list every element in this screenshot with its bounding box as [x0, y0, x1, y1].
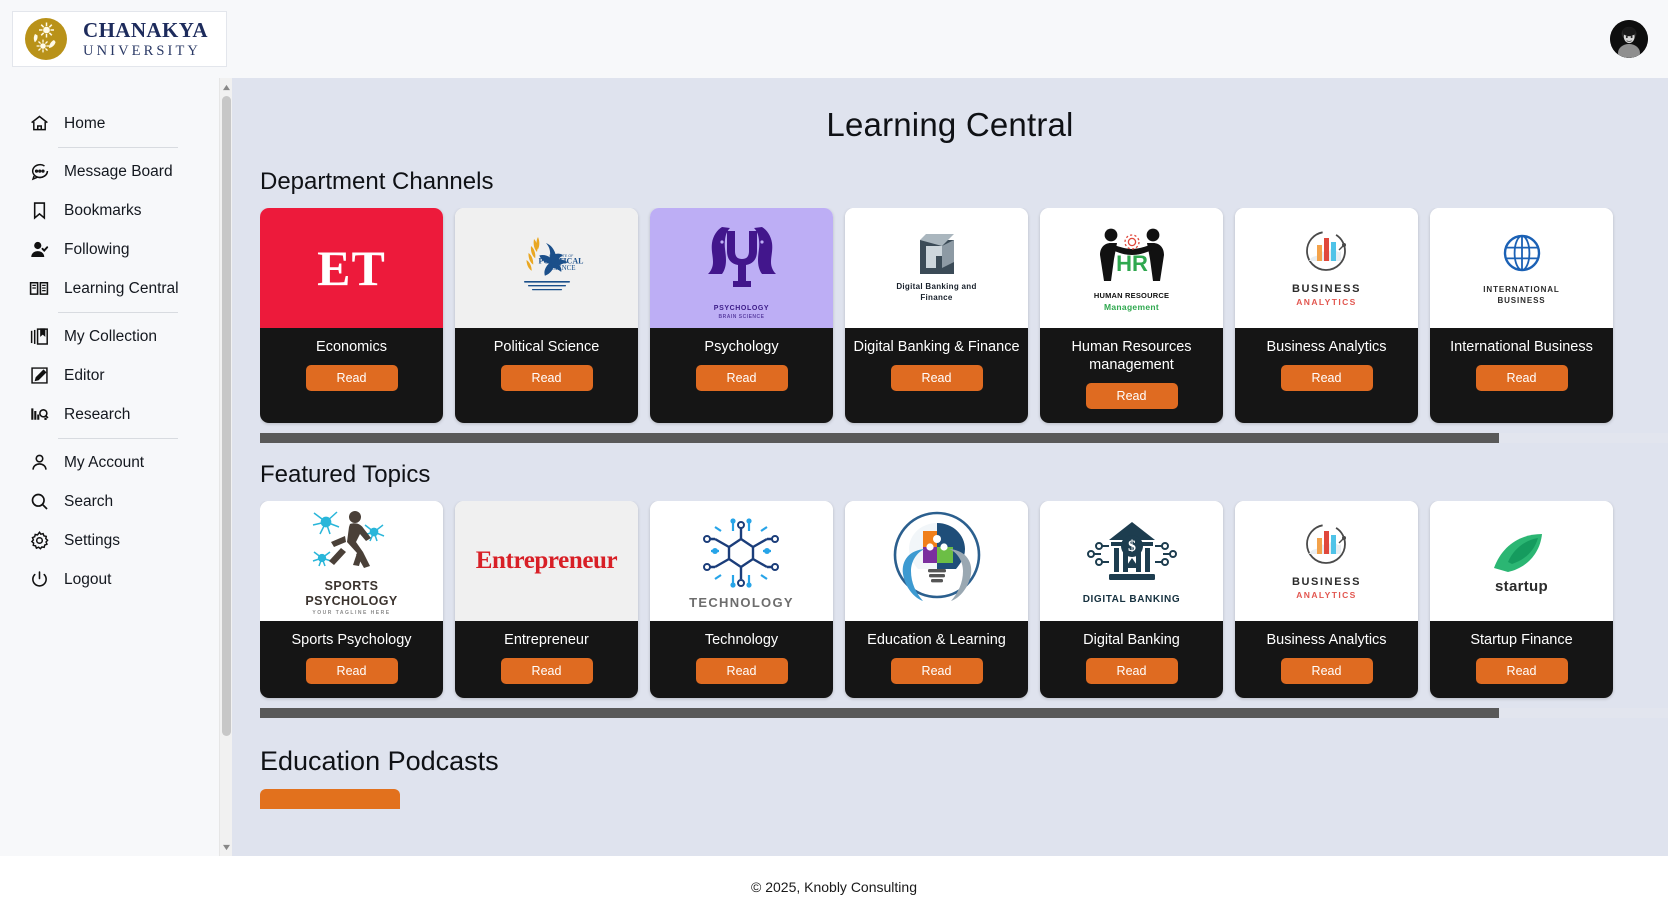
hr-people-logo-icon: HR HUMAN RESOURCE Management	[1090, 225, 1174, 312]
sidebar-item-search[interactable]: Search	[28, 482, 204, 521]
globe-logo-icon: INTERNATIONAL BUSINESS	[1483, 231, 1559, 305]
topic-card[interactable]: startup Startup Finance Read	[1430, 501, 1613, 698]
sidebar-item-label: Settings	[64, 532, 120, 550]
scroll-up-arrow[interactable]	[220, 80, 232, 94]
psychology-subcaption: BRAIN SCIENCE	[719, 314, 765, 320]
sidebar-divider	[58, 147, 178, 148]
hands-bulb-logo-icon	[881, 505, 993, 618]
sidebar-item-label: Learning Central	[64, 280, 179, 298]
channel-card[interactable]: PSYCHOLOGY BRAIN SCIENCE Psychology Read	[650, 208, 833, 423]
main-content: Learning Central Department Channels ET …	[232, 78, 1668, 856]
card-meta: Political Science Read	[455, 328, 638, 423]
card-meta: Startup Finance Read	[1430, 621, 1613, 698]
analytics-logo-icon: BUSINESS ANALYTICS	[1292, 229, 1361, 307]
card-title: Business Analytics	[1266, 631, 1386, 649]
card-meta: Business Analytics Read	[1235, 328, 1418, 423]
department-channels-rail[interactable]: ET Economics Read	[260, 208, 1668, 427]
topic-card[interactable]: TECHNOLOGY Technology Read	[650, 501, 833, 698]
card-artwork: BUSINESS ANALYTICS	[1235, 501, 1418, 621]
department-channels-rail-wrapper: ET Economics Read	[232, 208, 1668, 427]
sidebar-nav-list: Home Message Board Bookmarks	[0, 104, 232, 599]
svg-text:SCIENCE: SCIENCE	[546, 264, 575, 272]
svg-text:HR: HR	[1116, 251, 1148, 276]
topic-card[interactable]: Entrepreneur Entrepreneur Read	[455, 501, 638, 698]
sidebar-item-bookmarks[interactable]: Bookmarks	[28, 191, 204, 230]
sidebar-item-label: Editor	[64, 367, 105, 385]
top-bar: CHANAKYA UNIVERSITY	[0, 0, 1668, 78]
entrepreneur-logo-icon: Entrepreneur	[476, 547, 618, 575]
card-meta: Entrepreneur Read	[455, 621, 638, 698]
technology-caption: TECHNOLOGY	[689, 595, 794, 610]
sidebar-item-my-account[interactable]: My Account	[28, 443, 204, 482]
card-meta: Sports Psychology Read	[260, 621, 443, 698]
card-title: Sports Psychology	[291, 631, 411, 649]
circuit-logo-icon: TECHNOLOGY	[689, 513, 794, 610]
channel-card[interactable]: Digital Banking and Finance Digital Bank…	[845, 208, 1028, 423]
person-icon	[28, 452, 50, 474]
card-artwork: PSYCHOLOGY BRAIN SCIENCE	[650, 208, 833, 328]
read-button[interactable]: Read	[1281, 365, 1373, 391]
startup-caption: startup	[1495, 578, 1548, 595]
card-artwork: HR HUMAN RESOURCE Management	[1040, 208, 1223, 328]
sidebar-item-label: Bookmarks	[64, 202, 142, 220]
card-title: Education & Learning	[867, 631, 1006, 649]
sidebar-item-label: Following	[64, 241, 129, 259]
ba-caption-line1: BUSINESS	[1292, 576, 1361, 588]
read-button[interactable]: Read	[501, 658, 593, 684]
card-artwork	[845, 501, 1028, 621]
sidebar-item-logout[interactable]: Logout	[28, 560, 204, 599]
sp-caption-line2: PSYCHOLOGY	[305, 595, 397, 608]
et-logo-icon: ET	[317, 239, 386, 297]
read-button[interactable]: Read	[1476, 658, 1568, 684]
sidebar-item-research[interactable]: Research	[28, 395, 204, 434]
bookmark-icon	[28, 200, 50, 222]
read-button[interactable]: Read	[501, 365, 593, 391]
read-button[interactable]: Read	[306, 658, 398, 684]
card-artwork: $ DIGIT	[1040, 501, 1223, 621]
featured-topics-rail-wrapper: SPORTS PSYCHOLOGY YOUR TAGLINE HERE Spor…	[232, 501, 1668, 702]
department-channels-scrollbar[interactable]	[260, 433, 1668, 443]
startup-logo-icon: startup	[1486, 528, 1558, 595]
avatar[interactable]	[1610, 20, 1648, 58]
sidebar-item-message-board[interactable]: Message Board	[28, 152, 204, 191]
sidebar-item-home[interactable]: Home	[28, 104, 204, 143]
hr-caption-line1: HUMAN RESOURCE	[1094, 291, 1169, 300]
sidebar-item-label: My Collection	[64, 328, 157, 346]
read-button[interactable]: Read	[1086, 383, 1178, 409]
dbf-caption-line1: Digital Banking and	[896, 282, 976, 291]
card-artwork: Entrepreneur	[455, 501, 638, 621]
card-title: Digital Banking	[1083, 631, 1180, 649]
sidebar-item-settings[interactable]: Settings	[28, 521, 204, 560]
app-root: CHANAKYA UNIVERSITY	[0, 0, 1668, 918]
body-wrapper: Home Message Board Bookmarks	[0, 78, 1668, 856]
topic-card[interactable]: $ DIGIT	[1040, 501, 1223, 698]
brand-subtitle: UNIVERSITY	[83, 44, 208, 59]
read-button[interactable]: Read	[891, 365, 983, 391]
runner-neuron-logo-icon: SPORTS PSYCHOLOGY YOUR TAGLINE HERE	[300, 506, 404, 616]
sidebar-scrollbar[interactable]	[219, 78, 232, 856]
sidebar-item-label: Logout	[64, 571, 111, 589]
read-button[interactable]: Read	[696, 365, 788, 391]
polisci-logo-icon: INSTITUTE OF POLITICAL SCIENCE	[504, 231, 590, 306]
card-title: Technology	[705, 631, 778, 649]
channel-card[interactable]: BUSINESS ANALYTICS Business Analytics Re…	[1235, 208, 1418, 423]
card-artwork: SPORTS PSYCHOLOGY YOUR TAGLINE HERE	[260, 501, 443, 621]
person-check-icon	[28, 239, 50, 261]
section-heading-department-channels: Department Channels	[260, 168, 1668, 196]
featured-topics-scrollbar[interactable]	[260, 708, 1668, 718]
brand-name: CHANAKYA	[83, 20, 208, 41]
ba-caption-line2: ANALYTICS	[1296, 297, 1356, 307]
search-icon	[28, 491, 50, 513]
collection-icon	[28, 326, 50, 348]
pencil-square-icon	[28, 365, 50, 387]
card-title: International Business	[1450, 338, 1593, 356]
svg-text:$: $	[1128, 538, 1136, 555]
card-title: Economics	[316, 338, 387, 356]
scrollbar-thumb[interactable]	[260, 433, 1499, 443]
card-artwork: BUSINESS ANALYTICS	[1235, 208, 1418, 328]
open-book-icon	[28, 278, 50, 300]
sidebar-item-label: Research	[64, 406, 130, 424]
psi-faces-logo-icon: PSYCHOLOGY BRAIN SCIENCE	[686, 217, 798, 320]
intl-caption-line1: INTERNATIONAL	[1483, 285, 1559, 294]
card-title: Human Resources management	[1046, 338, 1217, 374]
featured-topics-rail[interactable]: SPORTS PSYCHOLOGY YOUR TAGLINE HERE Spor…	[260, 501, 1668, 702]
power-icon	[28, 569, 50, 591]
read-button[interactable]: Read	[1281, 658, 1373, 684]
ba-caption-line1: BUSINESS	[1292, 283, 1361, 295]
sidebar-item-label: Message Board	[64, 163, 173, 181]
page-title: Learning Central	[232, 78, 1668, 150]
dbf-caption-line2: Finance	[920, 293, 952, 302]
scroll-down-arrow[interactable]	[220, 840, 232, 854]
footer: © 2025, Knobly Consulting	[0, 856, 1668, 918]
analytics-logo-icon: BUSINESS ANALYTICS	[1292, 522, 1361, 600]
sidebar-item-following[interactable]: Following	[28, 230, 204, 269]
card-title: Startup Finance	[1470, 631, 1572, 649]
sidebar-item-label: Home	[64, 115, 105, 133]
topic-card[interactable]: BUSINESS ANALYTICS Business Analytics Re…	[1235, 501, 1418, 698]
section-heading-featured-topics: Featured Topics	[260, 461, 1668, 489]
copyright-text: © 2025, Knobly Consulting	[751, 879, 917, 895]
read-button[interactable]: Read	[1476, 365, 1568, 391]
card-artwork: TECHNOLOGY	[650, 501, 833, 621]
read-button[interactable]: Read	[1086, 658, 1178, 684]
read-button[interactable]: Read	[696, 658, 788, 684]
sidebar: Home Message Board Bookmarks	[0, 78, 232, 856]
card-artwork: INTERNATIONAL BUSINESS	[1430, 208, 1613, 328]
scrollbar-thumb[interactable]	[260, 708, 1499, 718]
sp-tagline: YOUR TAGLINE HERE	[312, 610, 390, 616]
gear-icon	[28, 530, 50, 552]
channel-card[interactable]: INSTITUTE OF POLITICAL SCIENCE Political…	[455, 208, 638, 423]
home-icon	[28, 113, 50, 135]
sidebar-divider	[58, 312, 178, 313]
channel-card[interactable]: ET Economics Read	[260, 208, 443, 423]
ba-caption-line2: ANALYTICS	[1296, 590, 1356, 600]
sidebar-item-editor[interactable]: Editor	[28, 356, 204, 395]
sp-caption-line1: SPORTS	[325, 580, 379, 593]
cube-logo-icon: Digital Banking and Finance	[896, 234, 976, 302]
card-artwork: ET	[260, 208, 443, 328]
chanakya-emblem-icon	[23, 16, 69, 62]
sidebar-scrollbar-thumb[interactable]	[222, 96, 231, 736]
card-meta: Education & Learning Read	[845, 621, 1028, 698]
read-button[interactable]: Read	[891, 658, 983, 684]
podcast-action-button[interactable]	[260, 789, 400, 809]
read-button[interactable]: Read	[306, 365, 398, 391]
card-artwork: INSTITUTE OF POLITICAL SCIENCE	[455, 208, 638, 328]
topic-card[interactable]: Education & Learning Read	[845, 501, 1028, 698]
card-meta: Business Analytics Read	[1235, 621, 1418, 698]
chat-bubble-icon	[28, 161, 50, 183]
card-meta: Digital Banking Read	[1040, 621, 1223, 698]
card-title: Psychology	[704, 338, 778, 356]
card-meta: Human Resources management Read	[1040, 328, 1223, 423]
card-title: Entrepreneur	[504, 631, 589, 649]
topic-card[interactable]: SPORTS PSYCHOLOGY YOUR TAGLINE HERE Spor…	[260, 501, 443, 698]
card-artwork: Digital Banking and Finance	[845, 208, 1028, 328]
card-artwork: startup	[1430, 501, 1613, 621]
section-heading-education-podcasts: Education Podcasts	[260, 746, 1668, 777]
research-chart-icon	[28, 404, 50, 426]
bank-circuit-logo-icon: $ DIGIT	[1079, 518, 1185, 605]
psychology-caption: PSYCHOLOGY	[714, 305, 769, 312]
card-meta: Technology Read	[650, 621, 833, 698]
brand-logo[interactable]: CHANAKYA UNIVERSITY	[12, 11, 227, 67]
channel-card[interactable]: HR HUMAN RESOURCE Management Human Resou…	[1040, 208, 1223, 423]
card-meta: Psychology Read	[650, 328, 833, 423]
digital-banking-caption: DIGITAL BANKING	[1083, 594, 1181, 605]
sidebar-item-learning-central[interactable]: Learning Central	[28, 269, 204, 308]
card-meta: Economics Read	[260, 328, 443, 423]
sidebar-item-label: Search	[64, 493, 113, 511]
channel-card[interactable]: INTERNATIONAL BUSINESS International Bus…	[1430, 208, 1613, 423]
card-title: Business Analytics	[1266, 338, 1386, 356]
sidebar-item-my-collection[interactable]: My Collection	[28, 317, 204, 356]
card-title: Political Science	[494, 338, 600, 356]
card-meta: International Business Read	[1430, 328, 1613, 423]
card-meta: Digital Banking & Finance Read	[845, 328, 1028, 423]
intl-caption-line2: BUSINESS	[1497, 296, 1545, 305]
card-title: Digital Banking & Finance	[853, 338, 1019, 356]
sidebar-divider	[58, 438, 178, 439]
hr-caption-line2: Management	[1104, 302, 1159, 312]
sidebar-item-label: My Account	[64, 454, 144, 472]
